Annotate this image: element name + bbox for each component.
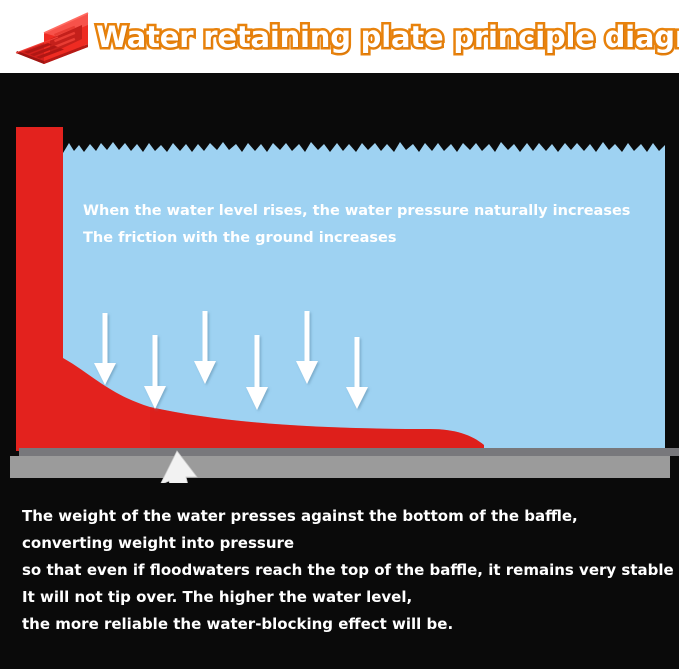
caption-line-2: converting weight into pressure <box>22 530 672 557</box>
caption-line-3: so that even if floodwaters reach the to… <box>22 557 672 584</box>
caption-line-4: It will not tip over. The higher the wat… <box>22 584 672 611</box>
page-title: Water retaining plate principle diagram <box>96 20 679 54</box>
header-bar: Water retaining plate principle diagram <box>0 0 679 73</box>
diagram-panel: When the water level rises, the water pr… <box>0 73 679 669</box>
downward-water-pressure-arrow <box>246 335 268 410</box>
water-annotation-line-2: The friction with the ground increases <box>83 225 673 252</box>
water-annotation-text: When the water level rises, the water pr… <box>83 198 673 252</box>
downward-pressure-arrows <box>94 311 368 410</box>
upward-ground-reaction-arrow <box>160 451 197 483</box>
caption-block: The weight of the water presses against … <box>22 503 672 638</box>
title-container: Water retaining plate principle diagram <box>96 0 679 73</box>
caption-line-1: The weight of the water presses against … <box>22 503 672 530</box>
downward-water-pressure-arrow <box>346 337 368 409</box>
force-arrows-layer <box>0 73 679 483</box>
downward-water-pressure-arrow <box>296 311 318 384</box>
downward-water-pressure-arrow <box>144 335 166 409</box>
caption-line-5: the more reliable the water-blocking eff… <box>22 611 672 638</box>
flood-barrier-plate-logo-icon <box>14 6 92 68</box>
downward-water-pressure-arrow <box>194 311 216 384</box>
downward-water-pressure-arrow <box>94 313 116 385</box>
water-retaining-plate-infographic: Water retaining plate principle diagram <box>0 0 679 669</box>
water-annotation-line-1: When the water level rises, the water pr… <box>83 198 673 225</box>
